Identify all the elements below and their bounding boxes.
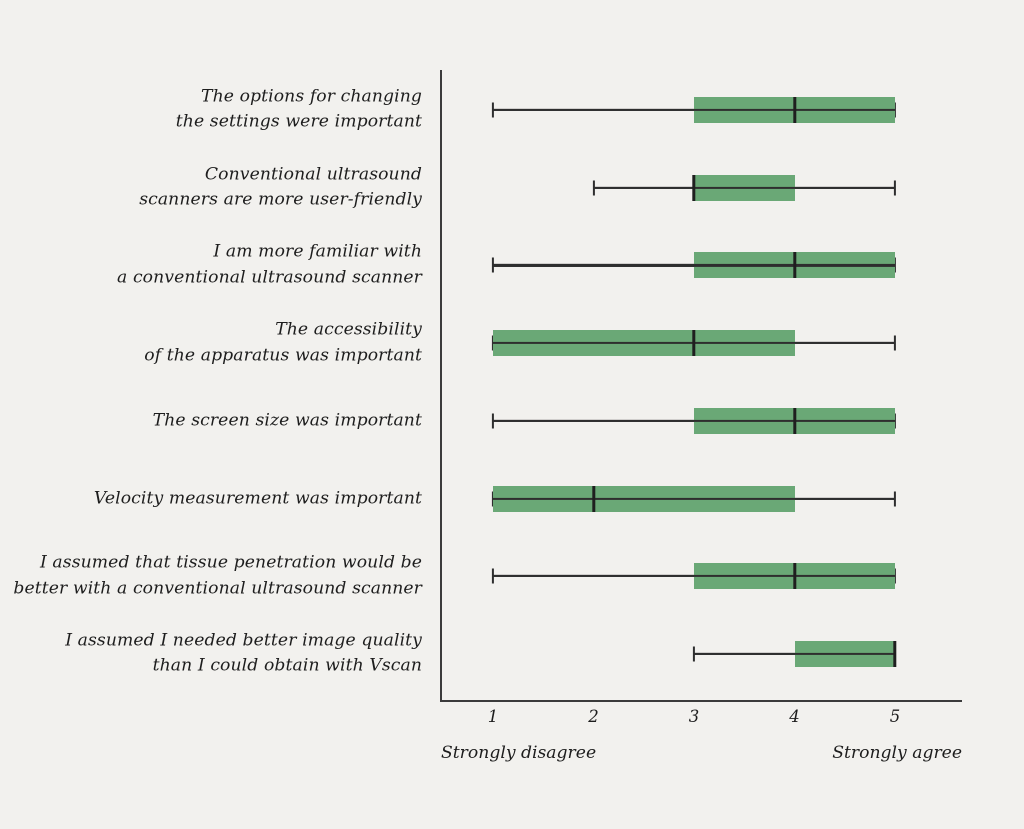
- whisker-line-overlay: [493, 575, 895, 577]
- median-line: [692, 175, 695, 201]
- x-axis-left-end-label: Strongly disagree: [441, 743, 596, 763]
- x-axis-tick-label: 5: [875, 707, 915, 726]
- boxplot-chart: The options for changing the settings we…: [0, 0, 1024, 829]
- category-label: Velocity measurement was important: [94, 486, 422, 511]
- category-label: I assumed that tissue penetration would …: [13, 551, 422, 602]
- category-label: I assumed I needed better image quality …: [65, 628, 422, 679]
- category-label: I am more familiar with a conventional u…: [117, 240, 422, 291]
- whisker-line-overlay: [594, 187, 896, 189]
- category-label: The screen size was important: [153, 408, 422, 433]
- category-label: The options for changing the settings we…: [176, 85, 422, 136]
- category-label: Conventional ultrasound scanners are mor…: [139, 162, 422, 213]
- median-line: [692, 330, 695, 356]
- median-line: [793, 408, 796, 434]
- whisker-line-overlay: [694, 653, 895, 655]
- x-axis-spine: [440, 700, 962, 702]
- plot-area: The options for changing the settings we…: [0, 0, 1024, 829]
- x-axis-right-end-label: Strongly agree: [832, 743, 962, 763]
- median-line: [793, 563, 796, 589]
- whisker-line-overlay: [493, 264, 895, 266]
- median-line: [893, 641, 896, 667]
- median-line: [592, 486, 595, 512]
- category-label: The accessibility of the apparatus was i…: [144, 318, 422, 369]
- x-axis-tick-label: 1: [473, 707, 513, 726]
- x-axis-tick-label: 3: [674, 707, 714, 726]
- median-line: [793, 252, 796, 278]
- whisker-line-overlay: [493, 497, 895, 499]
- x-axis-tick-label: 4: [775, 707, 815, 726]
- y-axis-spine: [440, 70, 442, 702]
- whisker-line-overlay: [493, 109, 895, 111]
- x-axis-tick-label: 2: [574, 707, 614, 726]
- median-line: [793, 97, 796, 123]
- whisker-line-overlay: [493, 420, 895, 422]
